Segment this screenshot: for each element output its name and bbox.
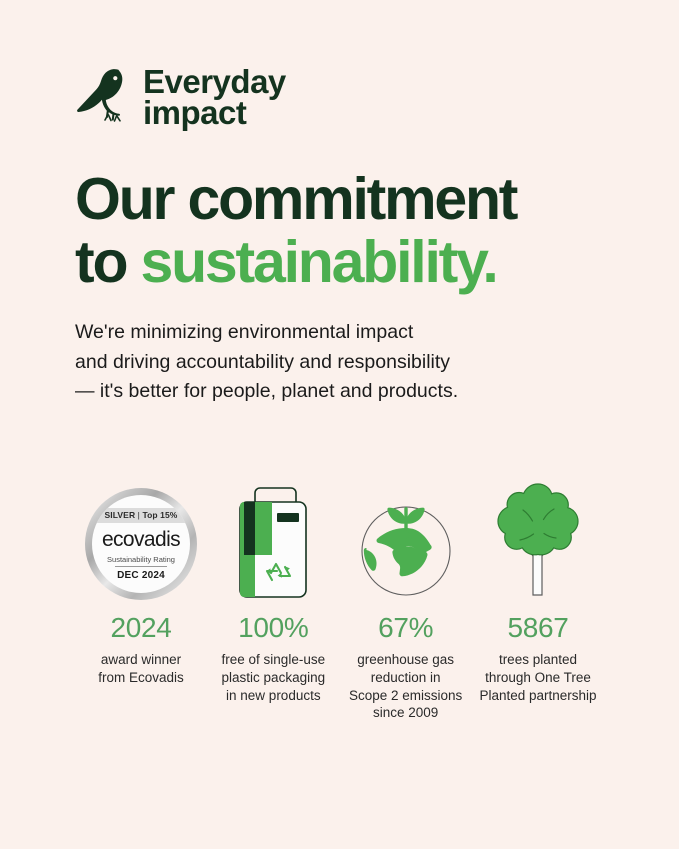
medal-separator: | bbox=[138, 510, 140, 520]
stat-caption: trees planted through One Tree Planted p… bbox=[479, 651, 596, 704]
bird-icon bbox=[75, 64, 131, 131]
stat-value: 2024 bbox=[110, 614, 171, 642]
stat-value: 100% bbox=[238, 614, 308, 642]
ecovadis-medal-icon: SILVER | Top 15% ecovadis Sustainability… bbox=[85, 470, 197, 600]
stat-caption: award winner from Ecovadis bbox=[98, 651, 184, 687]
globe-sprout-icon bbox=[354, 470, 458, 600]
medal-tier: SILVER bbox=[105, 510, 136, 520]
medal-face: SILVER | Top 15% ecovadis Sustainability… bbox=[92, 495, 190, 593]
headline-line-2-prefix: to bbox=[75, 229, 140, 295]
tree-icon bbox=[492, 470, 584, 600]
sustainability-infographic: Everyday impact Our commitment to sustai… bbox=[0, 0, 679, 849]
stat-item-ecovadis: SILVER | Top 15% ecovadis Sustainability… bbox=[75, 470, 207, 687]
headline-accent: sustainability. bbox=[140, 229, 496, 295]
headline-line-1: Our commitment bbox=[75, 166, 516, 232]
medal-rank: Top 15% bbox=[142, 510, 177, 520]
page-title: Our commitment to sustainability. bbox=[75, 168, 516, 293]
medal-divider bbox=[115, 566, 167, 567]
stat-item-trees: 5867 trees planted through One Tree Plan… bbox=[472, 470, 604, 704]
stat-value: 67% bbox=[378, 614, 433, 642]
stat-value: 5867 bbox=[507, 614, 568, 642]
brand-logo: Everyday impact bbox=[75, 64, 286, 131]
stats-row: SILVER | Top 15% ecovadis Sustainability… bbox=[75, 470, 604, 722]
medal-tier-band: SILVER | Top 15% bbox=[92, 508, 190, 523]
medal-date: DEC 2024 bbox=[117, 570, 165, 581]
medal-subtitle: Sustainability Rating bbox=[107, 555, 175, 564]
recyclable-packaging-icon bbox=[230, 470, 316, 600]
stat-item-packaging: 100% free of single-use plastic packagin… bbox=[207, 470, 339, 704]
stat-item-emissions: 67% greenhouse gas reduction in Scope 2 … bbox=[340, 470, 472, 722]
stat-caption: greenhouse gas reduction in Scope 2 emis… bbox=[349, 651, 462, 722]
medal-badge: SILVER | Top 15% ecovadis Sustainability… bbox=[85, 488, 197, 600]
brand-wordmark: Everyday impact bbox=[143, 67, 286, 128]
medal-brand: ecovadis bbox=[102, 528, 180, 552]
stat-caption: free of single-use plastic packaging in … bbox=[222, 651, 326, 704]
intro-paragraph: We're minimizing environmental impact an… bbox=[75, 318, 458, 407]
